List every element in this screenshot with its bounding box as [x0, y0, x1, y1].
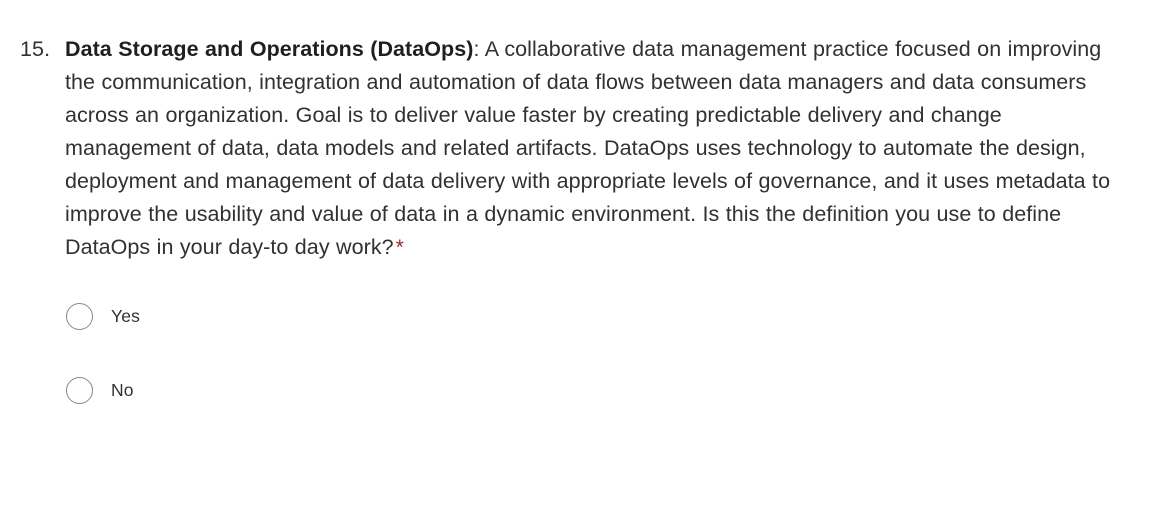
radio-option-yes[interactable]: Yes: [66, 294, 346, 338]
radio-circle-icon[interactable]: [66, 303, 93, 330]
question-row: 15. Data Storage and Operations (DataOps…: [0, 33, 1162, 264]
question-title: Data Storage and Operations (DataOps): A…: [65, 33, 1125, 264]
question-number: 15.: [20, 33, 65, 66]
radio-circle-icon[interactable]: [66, 377, 93, 404]
choice-group: Yes No: [0, 294, 1162, 412]
question-block: 15. Data Storage and Operations (DataOps…: [0, 0, 1162, 442]
radio-option-label: No: [111, 378, 134, 402]
radio-option-label: Yes: [111, 304, 140, 328]
question-term: Data Storage and Operations (DataOps): [65, 37, 473, 61]
required-asterisk: *: [394, 236, 404, 259]
radio-option-no[interactable]: No: [66, 368, 346, 412]
question-body: : A collaborative data management practi…: [65, 37, 1110, 259]
